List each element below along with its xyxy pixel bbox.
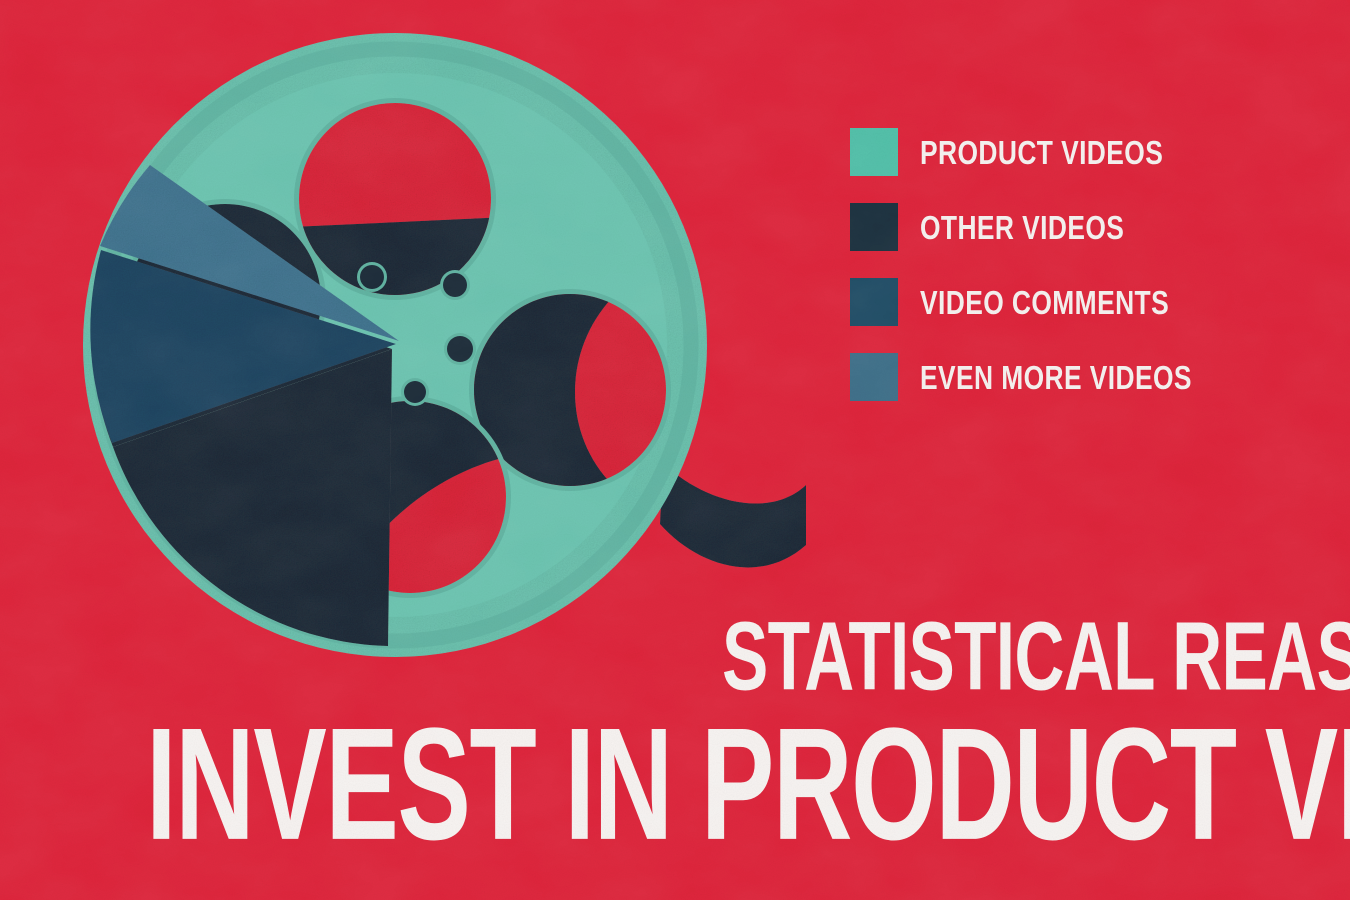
legend-item-video-comments[interactable]: VIDEO COMMENTS [850,278,1260,326]
legend-item-product-videos[interactable]: PRODUCT VIDEOS [850,128,1260,176]
legend-label-video-comments: VIDEO COMMENTS [920,286,1169,319]
chart-legend: PRODUCT VIDEOS OTHER VIDEOS VIDEO COMMEN… [850,128,1260,428]
legend-label-other-videos: OTHER VIDEOS [920,211,1124,244]
film-strip-tail [660,463,806,567]
legend-swatch-even-more-videos [850,353,898,401]
legend-swatch-video-comments [850,278,898,326]
poster-subtitle: STATISTICAL REASONS TO [722,608,1350,706]
legend-swatch-product-videos [850,128,898,176]
legend-label-even-more-videos: EVEN MORE VIDEOS [920,361,1192,394]
poster-canvas: PRODUCT VIDEOS OTHER VIDEOS VIDEO COMMEN… [0,0,1350,900]
legend-item-other-videos[interactable]: OTHER VIDEOS [850,203,1260,251]
legend-item-even-more-videos[interactable]: EVEN MORE VIDEOS [850,353,1260,401]
poster-headline: INVEST IN PRODUCT VIDEOS [146,705,1350,865]
legend-label-product-videos: PRODUCT VIDEOS [920,136,1163,169]
legend-swatch-other-videos [850,203,898,251]
